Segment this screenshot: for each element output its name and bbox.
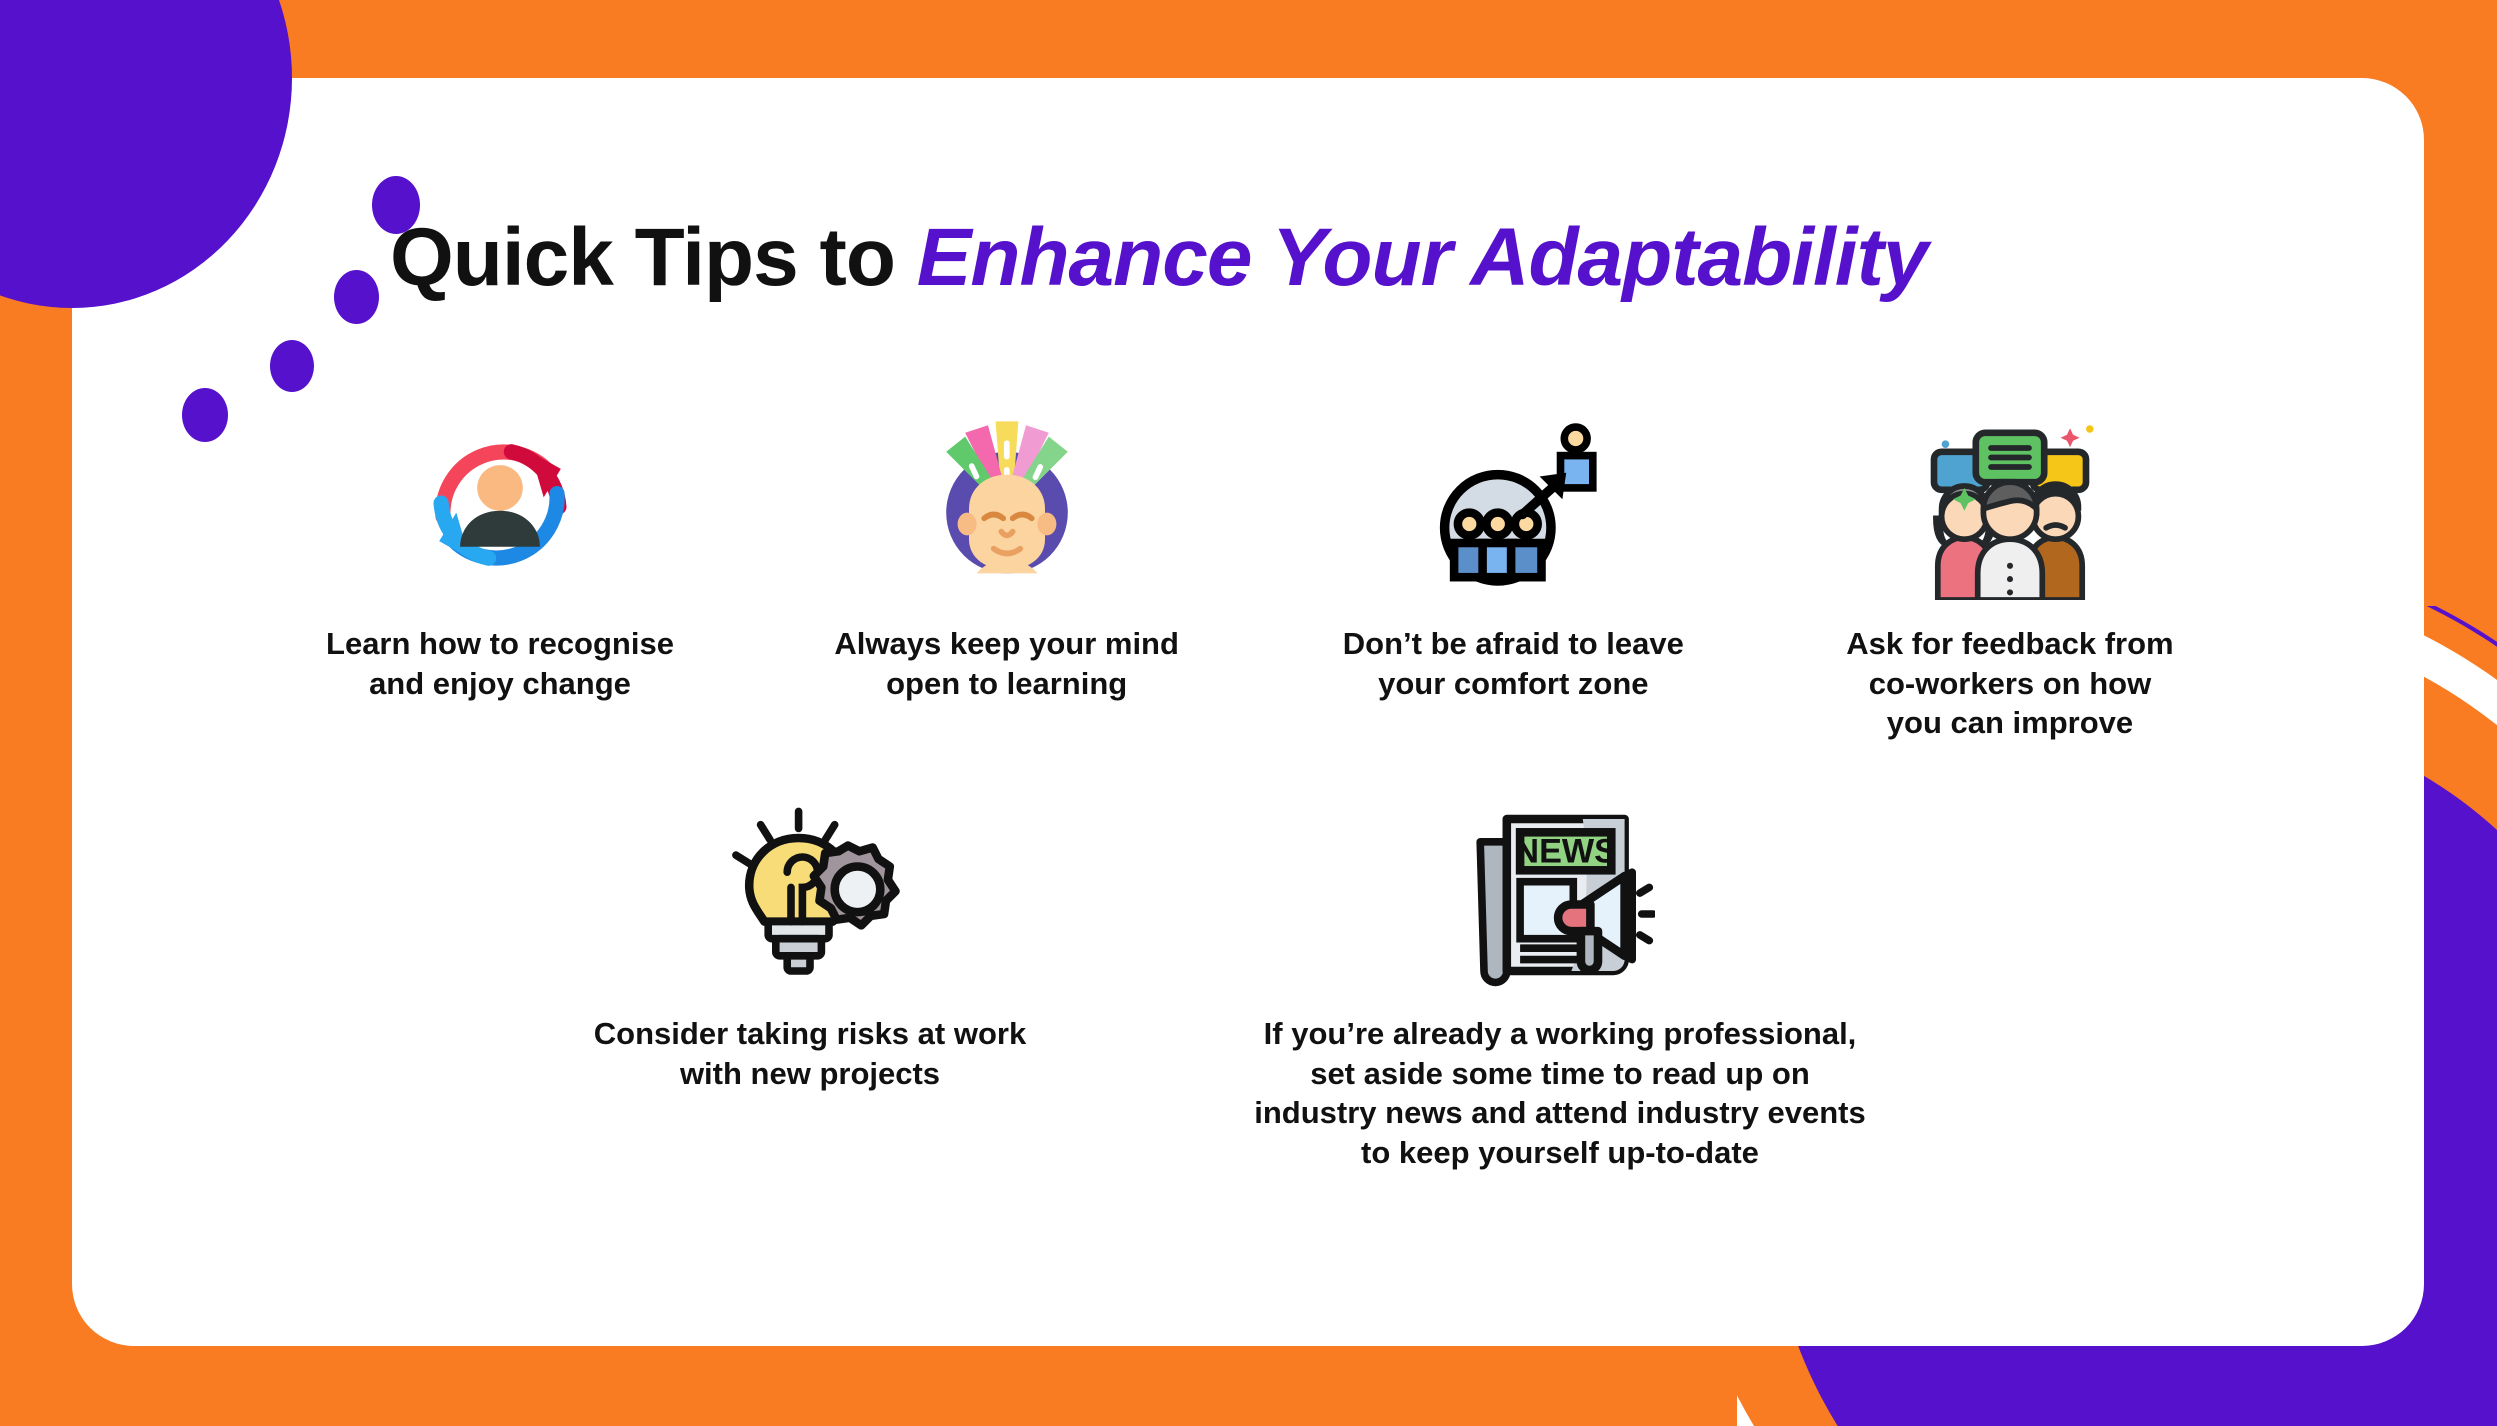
- title-plain: Quick Tips to: [390, 212, 917, 303]
- newspaper-megaphone-icon: NEWS: [1465, 790, 1655, 1000]
- feedback-people-icon: [1915, 400, 2105, 610]
- refresh-person-icon: [405, 400, 595, 610]
- tips-row-top: Learn how to recognise and enjoy change: [300, 400, 2200, 743]
- leave-comfort-zone-icon: [1418, 400, 1608, 610]
- tip-caption: Don’t be afraid to leave your comfort zo…: [1343, 624, 1684, 703]
- lightbulb-gear-icon: [715, 790, 905, 1000]
- decorative-dot-2: [334, 270, 379, 324]
- infographic-slide: Quick Tips to Enhance Your Adaptability …: [0, 0, 2497, 1426]
- decorative-dot-3: [270, 340, 314, 392]
- tip-caption: Ask for feedback from co-workers on how …: [1846, 624, 2173, 743]
- page-title: Quick Tips to Enhance Your Adaptability: [390, 215, 1928, 301]
- tip-caption: Learn how to recognise and enjoy change: [326, 624, 674, 703]
- top-left-purple-quarter-circle: [0, 0, 292, 308]
- tips-row-bottom: Consider taking risks at work with new p…: [560, 790, 1900, 1173]
- news-headline-text: NEWS: [1514, 833, 1617, 871]
- tip-industry-news: NEWS If you’re: [1220, 790, 1900, 1173]
- tip-caption: If you’re already a working professional…: [1254, 1014, 1866, 1173]
- tip-recognise-change: Learn how to recognise and enjoy change: [300, 400, 700, 703]
- tip-caption: Always keep your mind open to learning: [834, 624, 1179, 703]
- tip-take-risks: Consider taking risks at work with new p…: [560, 790, 1060, 1093]
- title-emphasis: Enhance Your Adaptability: [917, 212, 1928, 303]
- open-mind-icon: [912, 400, 1102, 610]
- tip-open-mind: Always keep your mind open to learning: [807, 400, 1207, 703]
- tip-feedback: Ask for feedback from co-workers on how …: [1820, 400, 2200, 743]
- decorative-dot-4: [182, 388, 228, 442]
- tip-caption: Consider taking risks at work with new p…: [594, 1014, 1026, 1093]
- tip-comfort-zone: Don’t be afraid to leave your comfort zo…: [1313, 400, 1713, 703]
